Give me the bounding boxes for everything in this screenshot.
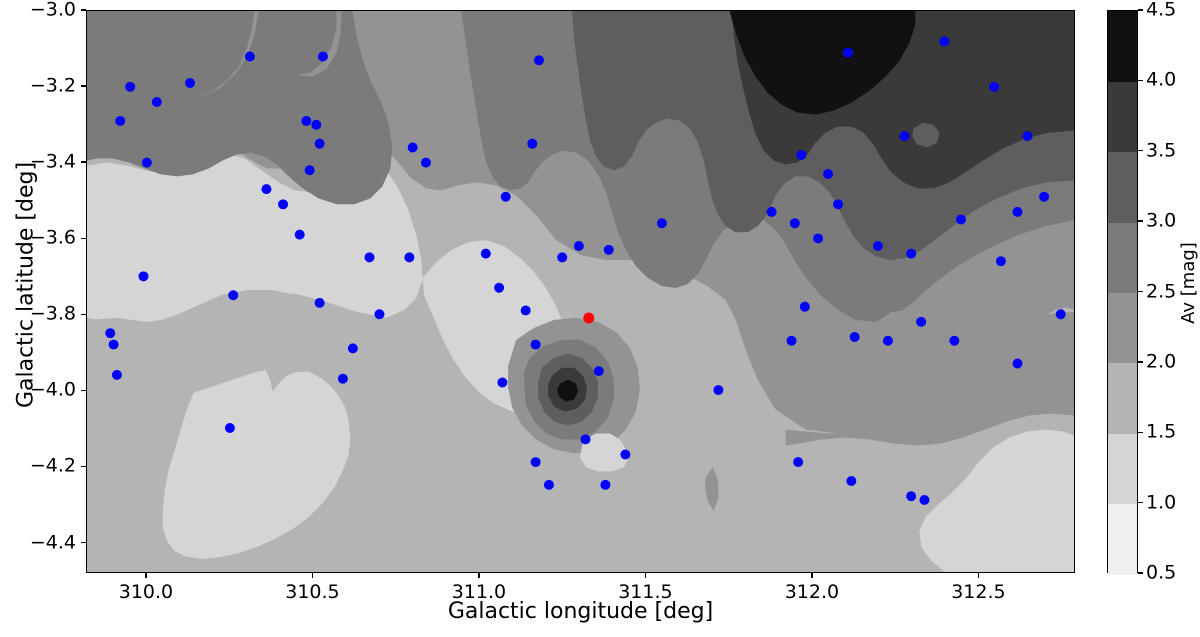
colorbar-tick-label: 1.0 [1146, 493, 1176, 512]
scatter-point [481, 249, 491, 259]
scatter-point [261, 184, 271, 194]
scatter-point [787, 336, 797, 346]
scatter-point [574, 241, 584, 251]
scatter-point [797, 150, 807, 160]
scatter-point [112, 370, 122, 380]
scatter-point [1039, 192, 1049, 202]
scatter-point [604, 245, 614, 255]
scatter-point [557, 252, 567, 262]
scatter-point [996, 256, 1006, 266]
scatter-point [421, 158, 431, 168]
colorbar-label: Av [mag] [1180, 113, 1198, 453]
colorbar-tick-label: 0.5 [1146, 564, 1176, 583]
scatter-point [767, 207, 777, 217]
scatter-point [846, 476, 856, 486]
scatter-point [850, 332, 860, 342]
scatter-point [311, 120, 321, 130]
colorbar[interactable] [1107, 10, 1138, 573]
scatter-point [833, 199, 843, 209]
scatter-point [501, 192, 511, 202]
colorbar-band [1108, 222, 1137, 293]
scatter-point [823, 169, 833, 179]
scatter-point [245, 52, 255, 62]
x-tick-label: 312.5 [951, 583, 1005, 602]
scatter-point [1013, 207, 1023, 217]
y-axis-label: Galactic latitude [deg] [16, 4, 38, 567]
colorbar-tick-mark [1138, 361, 1143, 362]
scatter-point [906, 249, 916, 259]
scatter-point [790, 218, 800, 228]
colorbar-band [1108, 293, 1137, 364]
x-tick-label: 310.5 [285, 583, 339, 602]
colorbar-tick-mark [1138, 432, 1143, 433]
scatter-point [295, 230, 305, 240]
scatter-point [139, 271, 149, 281]
colorbar-tick-label: 2.5 [1146, 282, 1176, 301]
scatter-point [939, 36, 949, 46]
scatter-point [900, 131, 910, 141]
scatter-point [228, 290, 238, 300]
y-tick-mark [81, 314, 86, 315]
scatter-point [115, 116, 125, 126]
y-tick-mark [81, 542, 86, 543]
scatter-point [1056, 309, 1066, 319]
scatter-point [404, 252, 414, 262]
scatter-point [916, 317, 926, 327]
scatter-point [527, 139, 537, 149]
colorbar-tick-label: 3.5 [1146, 141, 1176, 160]
y-tick-mark [81, 161, 86, 162]
x-tick-mark [978, 573, 979, 578]
colorbar-tick-mark [1138, 572, 1143, 573]
scatter-point [956, 214, 966, 224]
scatter-point [408, 142, 418, 152]
colorbar-tick-mark [1138, 291, 1143, 292]
colorbar-band [1108, 363, 1137, 434]
contour-figure: 310.0310.5311.0311.5312.0312.5 −3.0−3.2−… [0, 0, 1200, 637]
x-tick-mark [645, 573, 646, 578]
scatter-point [600, 480, 610, 490]
scatter-point [883, 336, 893, 346]
colorbar-tick-label: 1.5 [1146, 423, 1176, 442]
scatter-point [713, 385, 723, 395]
colorbar-band [1108, 504, 1137, 575]
colorbar-band [1108, 11, 1137, 82]
scatter-point [793, 457, 803, 467]
scatter-point [657, 218, 667, 228]
scatter-point [494, 283, 504, 293]
y-tick-mark [81, 390, 86, 391]
colorbar-tick-mark [1138, 502, 1143, 503]
colorbar-tick-mark [1138, 150, 1143, 151]
scatter-point [364, 252, 374, 262]
scatter-point [919, 495, 929, 505]
x-tick-mark [811, 573, 812, 578]
scatter-point [305, 165, 315, 175]
scatter-point [531, 457, 541, 467]
scatter-point [906, 491, 916, 501]
colorbar-tick-mark [1138, 9, 1143, 10]
colorbar-tick-label: 4.5 [1146, 1, 1176, 20]
scatter-point [531, 340, 541, 350]
scatter-point [315, 298, 325, 308]
colorbar-tick-mark [1138, 80, 1143, 81]
scatter-point [544, 480, 554, 490]
scatter-point [152, 97, 162, 107]
scatter-point [534, 55, 544, 65]
scatter-point [185, 78, 195, 88]
colorbar-tick-label: 2.0 [1146, 352, 1176, 371]
y-tick-mark [81, 9, 86, 10]
x-tick-label: 310.0 [119, 583, 173, 602]
scatter-point [348, 343, 358, 353]
scatter-point [318, 52, 328, 62]
scatter-point [843, 48, 853, 58]
scatter-point [278, 199, 288, 209]
x-tick-mark [145, 573, 146, 578]
y-tick-mark [81, 466, 86, 467]
target-point [583, 313, 594, 324]
scatter-point [109, 340, 119, 350]
scatter-point [800, 302, 810, 312]
x-tick-label: 312.0 [785, 583, 839, 602]
scatter-point [1022, 131, 1032, 141]
scatter-point [949, 336, 959, 346]
scatter-point [1013, 359, 1023, 369]
y-tick-mark [81, 85, 86, 86]
colorbar-band [1108, 152, 1137, 223]
colorbar-tick-label: 4.0 [1146, 71, 1176, 90]
scatter-point [620, 450, 630, 460]
scatter-point [301, 116, 311, 126]
scatter-point [521, 305, 531, 315]
scatter-point [315, 139, 325, 149]
colorbar-tick-mark [1138, 220, 1143, 221]
x-tick-mark [312, 573, 313, 578]
scatter-point [873, 241, 883, 251]
x-tick-mark [478, 573, 479, 578]
scatter-point [374, 309, 384, 319]
scatter-point [225, 423, 235, 433]
scatter-point [105, 328, 115, 338]
scatter-point [594, 366, 604, 376]
scatter-point [497, 377, 507, 387]
colorbar-band [1108, 81, 1137, 152]
y-tick-mark [81, 238, 86, 239]
scatter-point [989, 82, 999, 92]
stellar-scatter-points [87, 11, 1074, 572]
x-axis-label: Galactic longitude [deg] [86, 601, 1075, 623]
main-plot-area[interactable] [86, 10, 1075, 573]
scatter-point [338, 374, 348, 384]
scatter-point [125, 82, 135, 92]
colorbar-tick-label: 3.0 [1146, 212, 1176, 231]
scatter-point [142, 158, 152, 168]
scatter-point [580, 434, 590, 444]
colorbar-band [1108, 433, 1137, 504]
scatter-point [813, 233, 823, 243]
